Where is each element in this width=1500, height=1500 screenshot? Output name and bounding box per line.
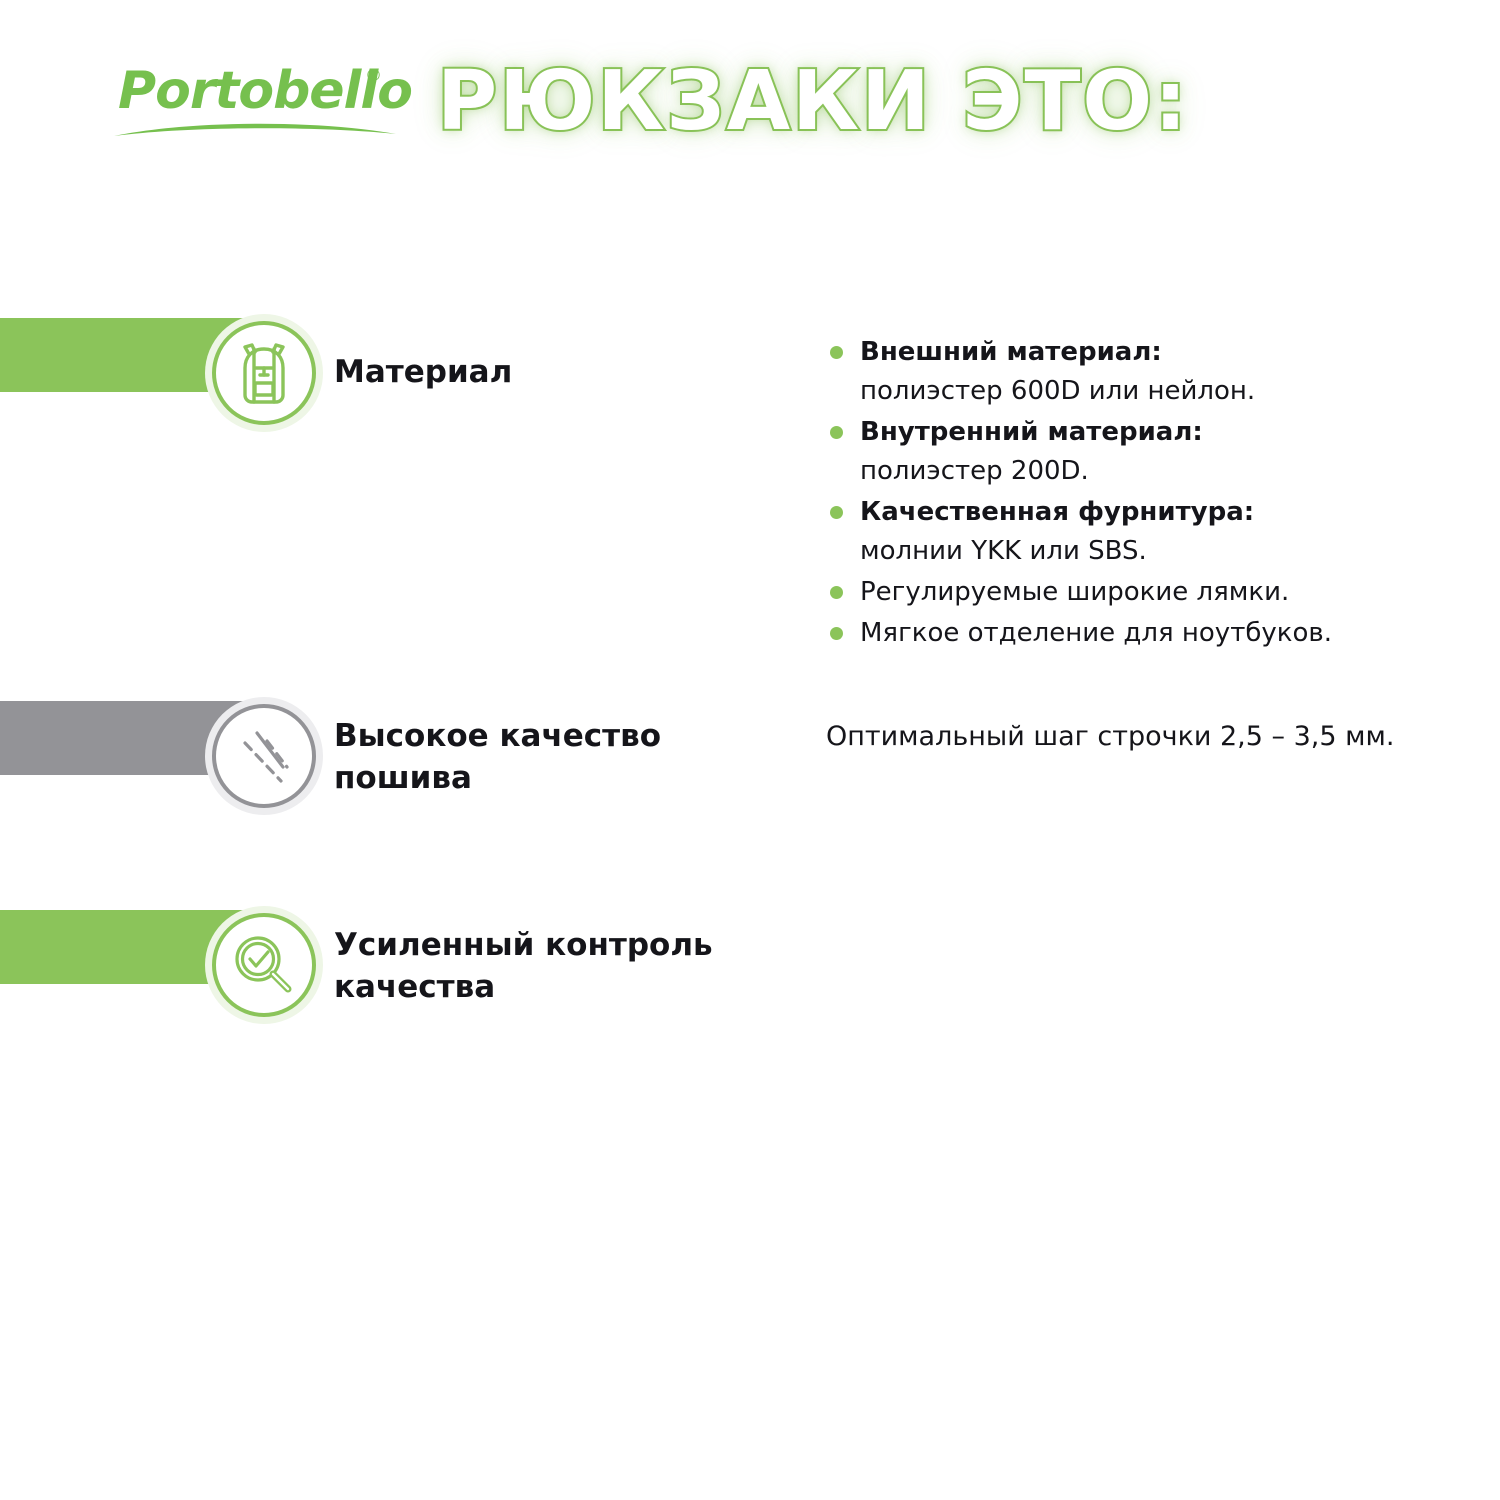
feature-heading-material: Материал (334, 351, 512, 393)
brand-swoosh-icon (112, 118, 398, 140)
feature-details-stitch-quality: Оптимальный шаг строчки 2,5 – 3,5 мм. (826, 718, 1466, 756)
list-item: Регулируемые широкие лямки. (826, 573, 1466, 612)
feature-icon-halo-material (205, 314, 323, 432)
feature-details-material: Внешний материал: полиэстер 600D или ней… (826, 333, 1466, 655)
bullet-dot-icon (830, 586, 843, 599)
page-title-text: РЮКЗАКИ ЭТО: (437, 54, 1189, 149)
brand-logo: Portobello ® (118, 62, 408, 142)
feature-row-stitch-quality: Высокое качество пошива (0, 697, 1500, 827)
feature-row-quality-control: Усиленный контроль качества (0, 906, 1500, 1036)
feature-heading-stitch-quality: Высокое качество пошива (334, 715, 661, 799)
bullet-dot-icon (830, 426, 843, 439)
stitching-lines-icon (212, 704, 316, 808)
bullet-subtitle: полиэстер 600D или нейлон. (860, 372, 1466, 411)
material-bullet-list: Внешний материал: полиэстер 600D или ней… (826, 333, 1466, 653)
list-item: Мягкое отделение для ноутбуков. (826, 614, 1466, 653)
bullet-text: Мягкое отделение для ноутбуков. (860, 618, 1332, 648)
list-item: Внутренний материал: полиэстер 200D. (826, 413, 1466, 491)
bullet-title: Качественная фурнитура: (860, 493, 1466, 532)
bullet-subtitle: молнии YKK или SBS. (860, 532, 1466, 571)
feature-icon-halo-stitch-quality (205, 697, 323, 815)
feature-icon-halo-quality-control (205, 906, 323, 1024)
bullet-title: Внешний материал: (860, 333, 1466, 372)
registered-trademark-icon: ® (365, 66, 382, 86)
bullet-text: Регулируемые широкие лямки. (860, 577, 1289, 607)
page-title: РЮКЗАКИ ЭТО: (437, 52, 1177, 152)
feature-heading-quality-control: Усиленный контроль качества (334, 924, 713, 1008)
bullet-dot-icon (830, 627, 843, 640)
list-item: Качественная фурнитура: молнии YKK или S… (826, 493, 1466, 571)
list-item: Внешний материал: полиэстер 600D или ней… (826, 333, 1466, 411)
backpack-icon (212, 321, 316, 425)
bullet-dot-icon (830, 506, 843, 519)
page-header: Portobello ® РЮКЗАКИ ЭТО: (0, 0, 1500, 190)
stitch-note-text: Оптимальный шаг строчки 2,5 – 3,5 мм. (826, 721, 1394, 752)
magnifier-check-icon (212, 913, 316, 1017)
bullet-dot-icon (830, 346, 843, 359)
bullet-title: Внутренний материал: (860, 413, 1466, 452)
bullet-subtitle: полиэстер 200D. (860, 452, 1466, 491)
